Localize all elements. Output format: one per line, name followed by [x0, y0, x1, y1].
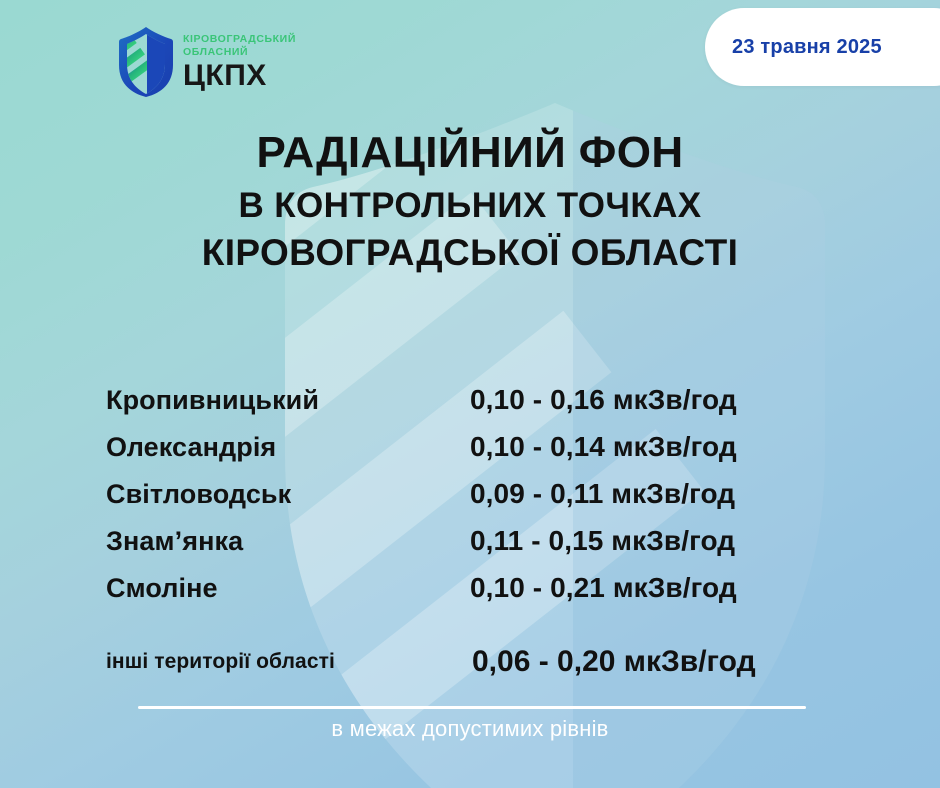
row-value: 0,11 - 0,15 мкЗв/год: [470, 525, 735, 557]
footer-note: в межах допустимих рівнів: [0, 716, 940, 742]
row-place: інші території області: [106, 650, 472, 674]
row-place: Смоліне: [106, 573, 470, 604]
row-place: Знам’янка: [106, 526, 470, 557]
table-row: Смоліне 0,10 - 0,21 мкЗв/год: [106, 572, 836, 619]
shield-logo-icon: [118, 26, 174, 98]
page-title-line3: КІРОВОГРАДСЬКОЇ ОБЛАСТІ: [0, 230, 940, 276]
row-value: 0,10 - 0,16 мкЗв/год: [470, 384, 737, 416]
page-title: РАДІАЦІЙНИЙ ФОН В КОНТРОЛЬНИХ ТОЧКАХ КІР…: [0, 126, 940, 277]
row-place: Олександрія: [106, 432, 470, 463]
footer-divider: [138, 706, 806, 709]
brand-wordmark: КІРОВОГРАДСЬКИЙ ОБЛАСНИЙ ЦКПХ: [183, 33, 296, 91]
date-badge-label: 23 травня 2025: [732, 36, 882, 59]
readings-table: Кропивницький 0,10 - 0,16 мкЗв/год Олекс…: [106, 384, 836, 676]
table-row-other-territories: інші території області 0,06 - 0,20 мкЗв/…: [106, 642, 836, 676]
page-title-line1: РАДІАЦІЙНИЙ ФОН: [0, 126, 940, 180]
table-row: Знам’янка 0,11 - 0,15 мкЗв/год: [106, 525, 836, 572]
row-value: 0,09 - 0,11 мкЗв/год: [470, 478, 735, 510]
radiation-background-poster: КІРОВОГРАДСЬКИЙ ОБЛАСНИЙ ЦКПХ 23 травня …: [0, 0, 940, 788]
table-row: Олександрія 0,10 - 0,14 мкЗв/год: [106, 431, 836, 478]
row-value: 0,10 - 0,21 мкЗв/год: [470, 572, 737, 604]
row-value: 0,06 - 0,20 мкЗв/год: [472, 645, 756, 679]
row-place: Кропивницький: [106, 385, 470, 416]
brand-logo: КІРОВОГРАДСЬКИЙ ОБЛАСНИЙ ЦКПХ: [118, 26, 296, 98]
table-row: Світловодськ 0,09 - 0,11 мкЗв/год: [106, 478, 836, 525]
brand-subtitle-line1: КІРОВОГРАДСЬКИЙ: [183, 33, 296, 46]
date-badge: 23 травня 2025: [705, 8, 940, 86]
table-row: Кропивницький 0,10 - 0,16 мкЗв/год: [106, 384, 836, 431]
brand-subtitle-line2: ОБЛАСНИЙ: [183, 46, 296, 59]
brand-name: ЦКПХ: [183, 61, 296, 91]
row-place: Світловодськ: [106, 479, 470, 510]
page-title-line2: В КОНТРОЛЬНИХ ТОЧКАХ: [0, 184, 940, 228]
row-value: 0,10 - 0,14 мкЗв/год: [470, 431, 737, 463]
